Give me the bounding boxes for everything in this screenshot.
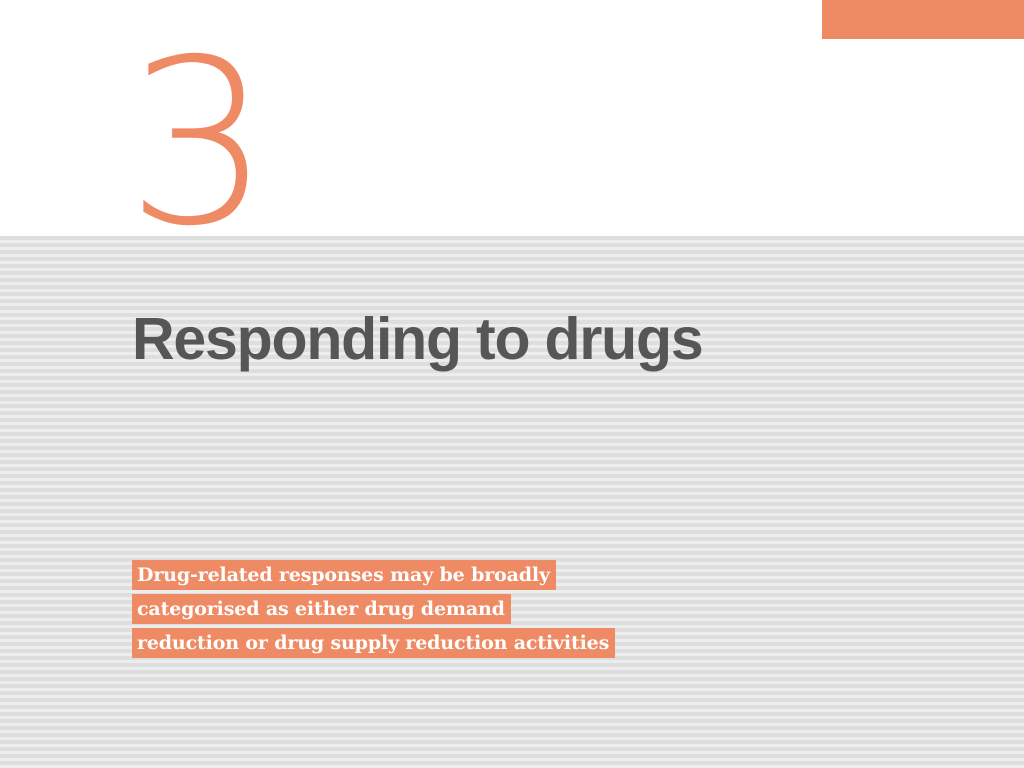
subtitle-line: reduction or drug supply reduction activ… [132,628,892,658]
page-title: Responding to drugs [132,306,932,372]
subtitle-line: Drug-related responses may be broadly [132,560,892,590]
subtitle-line: categorised as either drug demand [132,594,892,624]
subtitle-line-2-text: categorised as either drug demand [132,594,511,624]
subtitle-line-1-text: Drug-related responses may be broadly [132,560,556,590]
chapter-number: 3 [126,38,386,248]
presentation-slide: 3 Responding to drugs Drug-related respo… [0,0,1024,768]
subtitle-highlight-block: Drug-related responses may be broadly ca… [132,560,892,658]
subtitle-line-3-text: reduction or drug supply reduction activ… [132,628,615,658]
top-right-accent-bar [822,0,1024,39]
